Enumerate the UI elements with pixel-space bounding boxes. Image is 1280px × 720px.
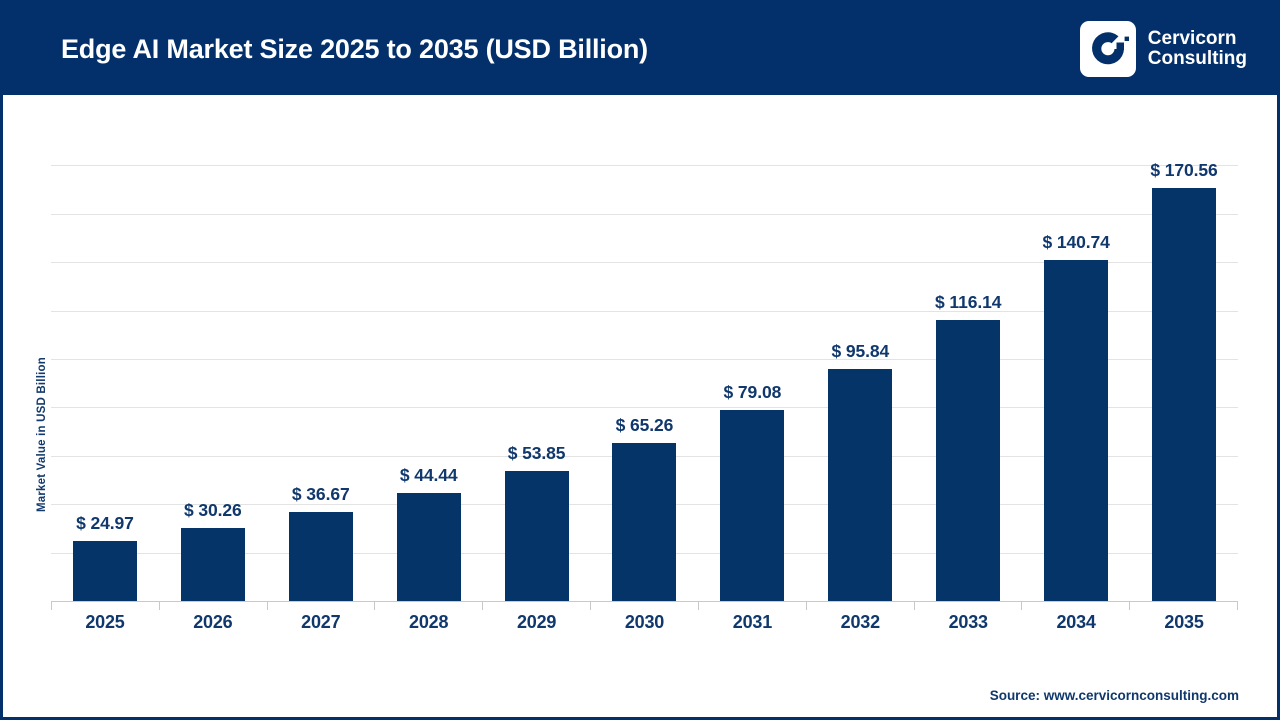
bar[interactable] [505, 471, 569, 601]
x-axis-ticks [51, 601, 1238, 610]
x-axis-tick-label: 2033 [914, 612, 1022, 633]
bar-group[interactable]: $ 65.26 [591, 117, 699, 601]
bar-value-label: $ 44.44 [400, 465, 458, 486]
bar-value-label: $ 53.85 [508, 443, 566, 464]
axis-tick [374, 601, 482, 610]
bar-value-label: $ 30.26 [184, 500, 242, 521]
bar-value-label: $ 140.74 [1042, 232, 1109, 253]
brand-name: Cervicorn Consulting [1148, 29, 1247, 70]
header-bar: Edge AI Market Size 2025 to 2035 (USD Bi… [3, 3, 1277, 95]
bar-group[interactable]: $ 95.84 [806, 117, 914, 601]
brand-logo: Cervicorn Consulting [1080, 21, 1257, 77]
x-axis-tick-label: 2026 [159, 612, 267, 633]
bar-group[interactable]: $ 36.67 [267, 117, 375, 601]
bar[interactable] [73, 541, 137, 601]
axis-tick [51, 601, 159, 610]
x-axis-tick-label: 2032 [806, 612, 914, 633]
x-axis-tick-label: 2030 [591, 612, 699, 633]
bar-value-label: $ 65.26 [616, 415, 674, 436]
axis-tick [698, 601, 806, 610]
bar-group[interactable]: $ 30.26 [159, 117, 267, 601]
chart-page: Edge AI Market Size 2025 to 2035 (USD Bi… [0, 0, 1280, 720]
brand-line-2: Consulting [1148, 49, 1247, 69]
bar-group[interactable]: $ 79.08 [698, 117, 806, 601]
bar-chart: Market Value in USD Billion $ 24.97$ 30.… [3, 95, 1277, 717]
x-axis-tick-label: 2025 [51, 612, 159, 633]
y-axis-label: Market Value in USD Billion [33, 275, 51, 595]
bar-group[interactable]: $ 44.44 [375, 117, 483, 601]
source-note: Source: www.cervicornconsulting.com [990, 688, 1239, 703]
bar-series: $ 24.97$ 30.26$ 36.67$ 44.44$ 53.85$ 65.… [51, 117, 1238, 601]
x-axis-tick-label: 2028 [375, 612, 483, 633]
x-axis-tick-label: 2027 [267, 612, 375, 633]
axis-tick [806, 601, 914, 610]
bar[interactable] [936, 320, 1000, 601]
bar[interactable] [1152, 188, 1216, 601]
bar-group[interactable]: $ 24.97 [51, 117, 159, 601]
bar-value-label: $ 95.84 [831, 341, 889, 362]
axis-tick [590, 601, 698, 610]
x-axis-tick-label: 2034 [1022, 612, 1130, 633]
bar[interactable] [720, 410, 784, 601]
axis-tick [914, 601, 1022, 610]
bar-group[interactable]: $ 53.85 [483, 117, 591, 601]
bar[interactable] [828, 369, 892, 601]
bar-group[interactable]: $ 170.56 [1130, 117, 1238, 601]
bar-value-label: $ 24.97 [76, 513, 134, 534]
axis-tick [267, 601, 375, 610]
axis-tick [1129, 601, 1238, 610]
bar[interactable] [612, 443, 676, 601]
bar[interactable] [1044, 260, 1108, 601]
cervicorn-c-logo-icon [1080, 21, 1136, 77]
bar-value-label: $ 79.08 [724, 382, 782, 403]
x-axis-tick-label: 2031 [698, 612, 806, 633]
page-title: Edge AI Market Size 2025 to 2035 (USD Bi… [61, 34, 648, 65]
x-axis-labels: 2025202620272028202920302031203220332034… [51, 612, 1238, 633]
axis-tick [1021, 601, 1129, 610]
bar[interactable] [181, 528, 245, 601]
bar-value-label: $ 116.14 [935, 292, 1001, 313]
x-axis-tick-label: 2035 [1130, 612, 1238, 633]
bar-group[interactable]: $ 116.14 [914, 117, 1022, 601]
bar-group[interactable]: $ 140.74 [1022, 117, 1130, 601]
brand-line-1: Cervicorn [1148, 29, 1247, 49]
bar[interactable] [397, 493, 461, 601]
bar[interactable] [289, 512, 353, 601]
axis-tick [159, 601, 267, 610]
x-axis-tick-label: 2029 [483, 612, 591, 633]
axis-tick [482, 601, 590, 610]
bar-value-label: $ 36.67 [292, 484, 350, 505]
bar-value-label: $ 170.56 [1150, 160, 1217, 181]
